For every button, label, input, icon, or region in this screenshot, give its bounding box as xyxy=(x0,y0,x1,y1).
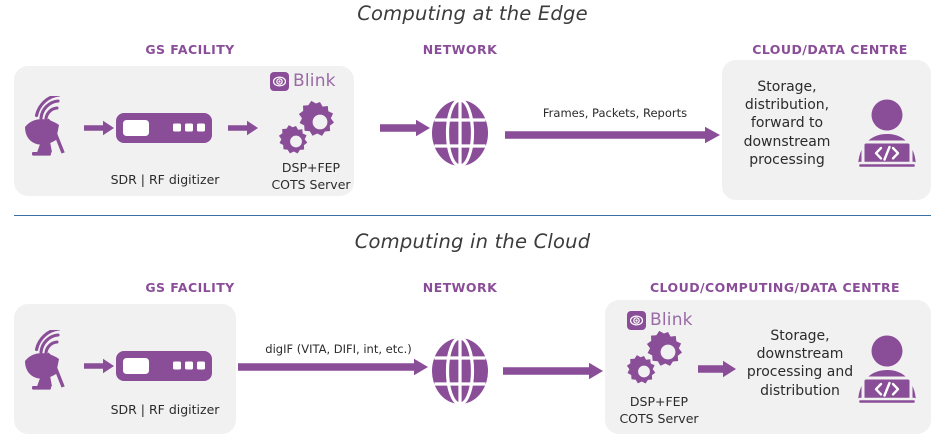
gears-icon-cloud xyxy=(626,330,690,388)
cloud-text-line: downstream xyxy=(740,345,860,363)
cloud-text-line: distribution, xyxy=(728,96,846,114)
blink-wordmark: Blink xyxy=(293,73,336,90)
person-laptop-icon-edge xyxy=(856,98,918,170)
server-icon-sdr-edge xyxy=(116,113,212,143)
person-laptop-icon-cloud xyxy=(856,334,918,406)
arrow-antenna-to-sdr-cloud xyxy=(84,358,114,374)
section-title-edge: Computing at the Edge xyxy=(0,2,945,25)
caption-sdr-edge: SDR | RF digitizer xyxy=(100,172,230,188)
blink-wordmark: Blink xyxy=(650,312,693,329)
blink-logo-cloud: Blink xyxy=(627,311,693,330)
cloud-text-line: Storage, xyxy=(740,327,860,345)
arrow-server-to-network-edge xyxy=(380,119,430,137)
column-heading-gs-facility-cloud: GS FACILITY xyxy=(110,280,270,295)
caption-sdr-cloud: SDR | RF digitizer xyxy=(100,402,230,418)
flow-label-edge: Frames, Packets, Reports xyxy=(505,106,725,120)
section-divider xyxy=(14,215,931,216)
cloud-text-line: forward to xyxy=(728,114,846,132)
caption-server-line1-cloud: DSP+FEP xyxy=(594,394,724,410)
section-title-cloud: Computing in the Cloud xyxy=(0,230,945,253)
column-heading-network-cloud: NETWORK xyxy=(380,280,540,295)
cloud-text-line: processing xyxy=(728,151,846,169)
cloud-text-line: Storage, xyxy=(728,78,846,96)
arrow-network-to-cloud-cloud xyxy=(503,362,603,380)
arrow-server-to-storage-cloud xyxy=(698,360,736,378)
caption-server-line1-edge: DSP+FEP xyxy=(246,160,376,176)
server-icon-sdr-cloud xyxy=(116,351,212,381)
column-heading-cloud-computing-data-centre: CLOUD/COMPUTING/DATA CENTRE xyxy=(620,280,930,295)
blink-logo-edge: Blink xyxy=(270,72,336,91)
flow-label-cloud: digIF (VITA, DIFI, int, etc.) xyxy=(236,342,441,356)
globe-icon-cloud xyxy=(431,337,489,405)
gears-icon-edge xyxy=(278,100,342,158)
arrow-sdr-to-network-cloud xyxy=(238,358,428,376)
arrow-sdr-to-server-edge xyxy=(228,120,258,136)
satellite-dish-icon-cloud xyxy=(20,330,76,392)
globe-icon-edge xyxy=(431,99,489,167)
cloud-text-cloud: Storage, downstream processing and distr… xyxy=(740,327,860,400)
arrow-antenna-to-sdr-edge xyxy=(84,120,114,136)
caption-server-line2-cloud: COTS Server xyxy=(594,411,724,427)
column-heading-gs-facility-edge: GS FACILITY xyxy=(110,42,270,57)
cloud-text-line: downstream xyxy=(728,133,846,151)
arrow-network-to-cloud-edge xyxy=(505,126,720,144)
cloud-text-line: processing and xyxy=(740,363,860,381)
diagram-canvas: Computing at the Edge GS FACILITY NETWOR… xyxy=(0,0,945,447)
blink-eye-icon xyxy=(627,311,646,330)
caption-server-line2-edge: COTS Server xyxy=(246,177,376,193)
cloud-text-line: distribution xyxy=(740,382,860,400)
satellite-dish-icon xyxy=(20,96,76,158)
column-heading-cloud-data-centre-edge: CLOUD/DATA CENTRE xyxy=(730,42,930,57)
cloud-text-edge: Storage, distribution, forward to downst… xyxy=(728,78,846,169)
blink-eye-icon xyxy=(270,72,289,91)
column-heading-network-edge: NETWORK xyxy=(380,42,540,57)
